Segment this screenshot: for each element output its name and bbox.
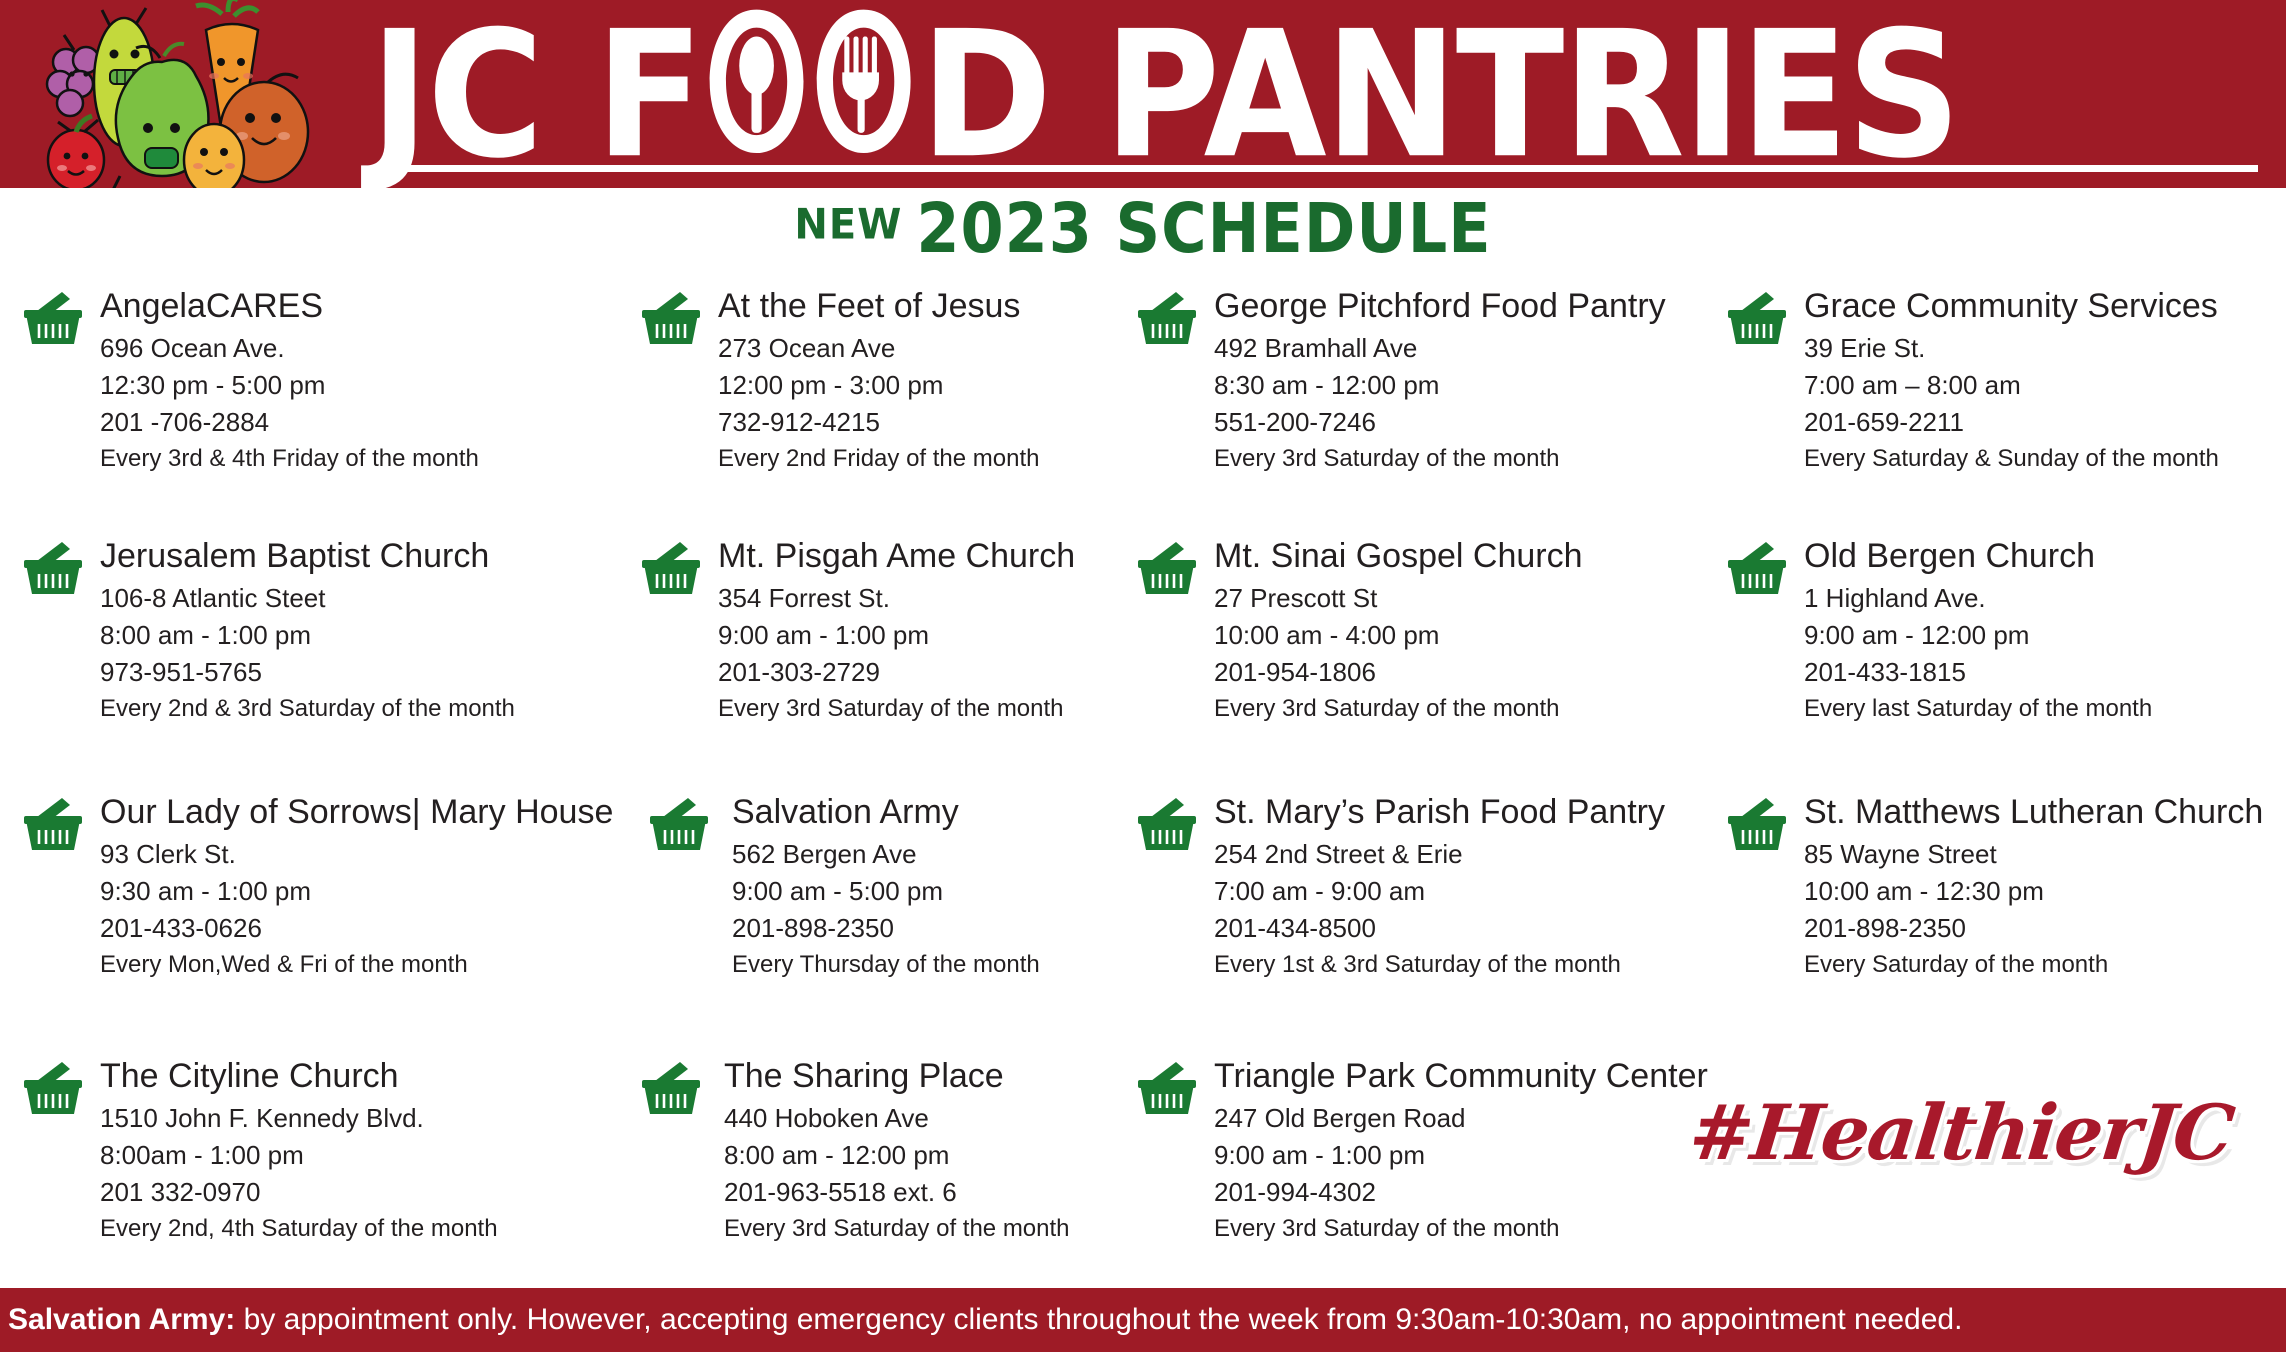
pantry-phone[interactable]: 201-303-2729 xyxy=(718,654,1140,691)
page-title: JC FD PANTRIES xyxy=(370,0,2270,184)
pantry-address: 492 Bramhall Ave xyxy=(1214,330,1716,367)
shopping-basket-icon xyxy=(1136,290,1198,352)
pantry-schedule: Every 3rd & 4th Friday of the month xyxy=(100,441,622,477)
pantry-schedule: Every 3rd Saturday of the month xyxy=(1214,691,1716,727)
pantry-address: 39 Erie St. xyxy=(1804,330,2286,367)
vegetables-mascot-icon xyxy=(14,0,334,188)
pantry-name: At the Feet of Jesus xyxy=(718,286,1140,326)
pantry-hours: 9:00 am - 1:00 pm xyxy=(718,617,1140,654)
pantry-address: 1 Highland Ave. xyxy=(1804,580,2286,617)
pantry-schedule: Every 3rd Saturday of the month xyxy=(1214,1211,1716,1247)
pantry-phone[interactable]: 201-433-0626 xyxy=(100,910,642,947)
pantry-card[interactable]: AngelaCARES 696 Ocean Ave. 12:30 pm - 5:… xyxy=(22,286,622,477)
pantry-card[interactable]: Grace Community Services 39 Erie St. 7:0… xyxy=(1726,286,2286,477)
pantry-hours: 9:00 am - 1:00 pm xyxy=(1214,1137,1716,1174)
pantry-address: 562 Bergen Ave xyxy=(732,836,1138,873)
pantry-card[interactable]: The Sharing Place 440 Hoboken Ave 8:00 a… xyxy=(640,1056,1140,1247)
pantry-name: The Cityline Church xyxy=(100,1056,622,1096)
pantry-name: George Pitchford Food Pantry xyxy=(1214,286,1716,326)
healthier-jc-hashtag: #HealthierJC xyxy=(1685,1088,2236,1177)
pantry-card[interactable]: George Pitchford Food Pantry 492 Bramhal… xyxy=(1136,286,1716,477)
pantry-name: AngelaCARES xyxy=(100,286,622,326)
pantry-card[interactable]: St. Mary’s Parish Food Pantry 254 2nd St… xyxy=(1136,792,1716,983)
footer-note: Salvation Army: by appointment only. How… xyxy=(0,1288,1962,1352)
pantry-hours: 7:00 am - 9:00 am xyxy=(1214,873,1716,910)
pantry-hours: 7:00 am – 8:00 am xyxy=(1804,367,2286,404)
shopping-basket-icon xyxy=(648,796,710,858)
shopping-basket-icon xyxy=(1136,540,1198,602)
pantry-phone[interactable]: 201 332-0970 xyxy=(100,1174,622,1211)
pantry-name: Our Lady of Sorrows| Mary House xyxy=(100,792,642,832)
pantry-address: 254 2nd Street & Erie xyxy=(1214,836,1716,873)
pantry-address: 354 Forrest St. xyxy=(718,580,1140,617)
shopping-basket-icon xyxy=(22,290,84,352)
pantry-name: The Sharing Place xyxy=(724,1056,1140,1096)
new-badge-label: NEW xyxy=(794,201,902,249)
pantry-hours: 8:00am - 1:00 pm xyxy=(100,1137,622,1174)
pantry-phone[interactable]: 201-994-4302 xyxy=(1214,1174,1716,1211)
pantry-schedule: Every 3rd Saturday of the month xyxy=(724,1211,1140,1247)
pantry-phone[interactable]: 201-963-5518 ext. 6 xyxy=(724,1174,1140,1211)
shopping-basket-icon xyxy=(640,1060,702,1122)
pantry-card[interactable]: Our Lady of Sorrows| Mary House 93 Clerk… xyxy=(22,792,642,983)
pantry-schedule: Every 1st & 3rd Saturday of the month xyxy=(1214,947,1716,983)
pantry-name: Triangle Park Community Center xyxy=(1214,1056,1716,1096)
pantry-address: 696 Ocean Ave. xyxy=(100,330,622,367)
pantry-schedule: Every 3rd Saturday of the month xyxy=(718,691,1140,727)
pantry-schedule: Every Thursday of the month xyxy=(732,947,1138,983)
schedule-subtitle: NEW2023 SCHEDULE xyxy=(0,188,2286,274)
pantry-phone[interactable]: 201 -706-2884 xyxy=(100,404,622,441)
pantry-phone[interactable]: 551-200-7246 xyxy=(1214,404,1716,441)
pantry-hours: 8:00 am - 1:00 pm xyxy=(100,617,622,654)
pantry-name: Jerusalem Baptist Church xyxy=(100,536,622,576)
pantry-schedule: Every Saturday of the month xyxy=(1804,947,2286,983)
pantry-schedule: Every 3rd Saturday of the month xyxy=(1214,441,1716,477)
pantry-card[interactable]: Triangle Park Community Center 247 Old B… xyxy=(1136,1056,1716,1247)
pantry-hours: 9:00 am - 12:00 pm xyxy=(1804,617,2286,654)
pantry-name: Salvation Army xyxy=(732,792,1138,832)
title-text-part-1: JC F xyxy=(370,0,702,188)
pantry-schedule: Every last Saturday of the month xyxy=(1804,691,2286,727)
pantry-schedule: Every Saturday & Sunday of the month xyxy=(1804,441,2286,477)
pantry-hours: 12:30 pm - 5:00 pm xyxy=(100,367,622,404)
pantry-card[interactable]: At the Feet of Jesus 273 Ocean Ave 12:00… xyxy=(640,286,1140,477)
pantry-hours: 10:00 am - 12:30 pm xyxy=(1804,873,2286,910)
schedule-year-label: 2023 SCHEDULE xyxy=(916,188,1491,268)
shopping-basket-icon xyxy=(640,540,702,602)
pantry-phone[interactable]: 201-898-2350 xyxy=(1804,910,2286,947)
shopping-basket-icon xyxy=(1726,290,1788,352)
pantry-address: 93 Clerk St. xyxy=(100,836,642,873)
shopping-basket-icon xyxy=(22,796,84,858)
pantry-phone[interactable]: 201-898-2350 xyxy=(732,910,1138,947)
shopping-basket-icon xyxy=(1726,540,1788,602)
footer-bold-prefix: Salvation Army: xyxy=(8,1303,235,1336)
pantry-address: 85 Wayne Street xyxy=(1804,836,2286,873)
footer-note-text: by appointment only. However, accepting … xyxy=(235,1303,1962,1336)
pantry-schedule: Every 2nd Friday of the month xyxy=(718,441,1140,477)
pantry-card[interactable]: Mt. Pisgah Ame Church 354 Forrest St. 9:… xyxy=(640,536,1140,727)
pantry-card[interactable]: Salvation Army 562 Bergen Ave 9:00 am - … xyxy=(648,792,1138,983)
pantry-schedule: Every 2nd, 4th Saturday of the month xyxy=(100,1211,622,1247)
pantry-card[interactable]: Old Bergen Church 1 Highland Ave. 9:00 a… xyxy=(1726,536,2286,727)
pantry-hours: 9:30 am - 1:00 pm xyxy=(100,873,642,910)
pantry-hours: 8:00 am - 12:00 pm xyxy=(724,1137,1140,1174)
pantry-address: 247 Old Bergen Road xyxy=(1214,1100,1716,1137)
pantry-schedule: Every 2nd & 3rd Saturday of the month xyxy=(100,691,622,727)
pantry-card[interactable]: Mt. Sinai Gospel Church 27 Prescott St 1… xyxy=(1136,536,1716,727)
pantry-phone[interactable]: 973-951-5765 xyxy=(100,654,622,691)
pantry-hours: 8:30 am - 12:00 pm xyxy=(1214,367,1716,404)
pantry-address: 27 Prescott St xyxy=(1214,580,1716,617)
pantry-schedule: Every Mon,Wed & Fri of the month xyxy=(100,947,642,983)
pantry-phone[interactable]: 201-434-8500 xyxy=(1214,910,1716,947)
shopping-basket-icon xyxy=(22,540,84,602)
pantry-address: 440 Hoboken Ave xyxy=(724,1100,1140,1137)
pantry-name: Mt. Pisgah Ame Church xyxy=(718,536,1140,576)
pantry-address: 273 Ocean Ave xyxy=(718,330,1140,367)
shopping-basket-icon xyxy=(640,290,702,352)
shopping-basket-icon xyxy=(1136,796,1198,858)
footer-banner: Salvation Army: by appointment only. How… xyxy=(0,1288,2286,1352)
pantry-phone[interactable]: 201-659-2211 xyxy=(1804,404,2286,441)
pantry-name: St. Mary’s Parish Food Pantry xyxy=(1214,792,1716,832)
pantry-name: Old Bergen Church xyxy=(1804,536,2286,576)
food-oo-spoon-fork-icon xyxy=(704,0,918,188)
shopping-basket-icon xyxy=(1726,796,1788,858)
shopping-basket-icon xyxy=(22,1060,84,1122)
pantry-hours: 12:00 pm - 3:00 pm xyxy=(718,367,1140,404)
pantry-card[interactable]: St. Matthews Lutheran Church 85 Wayne St… xyxy=(1726,792,2286,983)
title-text-part-2: D PANTRIES xyxy=(920,0,1959,188)
pantry-address: 1510 John F. Kennedy Blvd. xyxy=(100,1100,622,1137)
pantry-name: Grace Community Services xyxy=(1804,286,2286,326)
healthier-jc-logo: #HealthierJC xyxy=(1690,1088,2270,1238)
shopping-basket-icon xyxy=(1136,1060,1198,1122)
pantry-name: Mt. Sinai Gospel Church xyxy=(1214,536,1716,576)
pantry-card[interactable]: The Cityline Church 1510 John F. Kennedy… xyxy=(22,1056,622,1247)
pantry-name: St. Matthews Lutheran Church xyxy=(1804,792,2286,832)
header-banner: JC FD PANTRIES xyxy=(0,0,2286,188)
pantry-hours: 10:00 am - 4:00 pm xyxy=(1214,617,1716,654)
pantry-card[interactable]: Jerusalem Baptist Church 106-8 Atlantic … xyxy=(22,536,622,727)
pantry-phone[interactable]: 732-912-4215 xyxy=(718,404,1140,441)
title-underline xyxy=(378,165,2258,172)
pantry-address: 106-8 Atlantic Steet xyxy=(100,580,622,617)
pantry-phone[interactable]: 201-433-1815 xyxy=(1804,654,2286,691)
pantry-phone[interactable]: 201-954-1806 xyxy=(1214,654,1716,691)
pantry-hours: 9:00 am - 5:00 pm xyxy=(732,873,1138,910)
